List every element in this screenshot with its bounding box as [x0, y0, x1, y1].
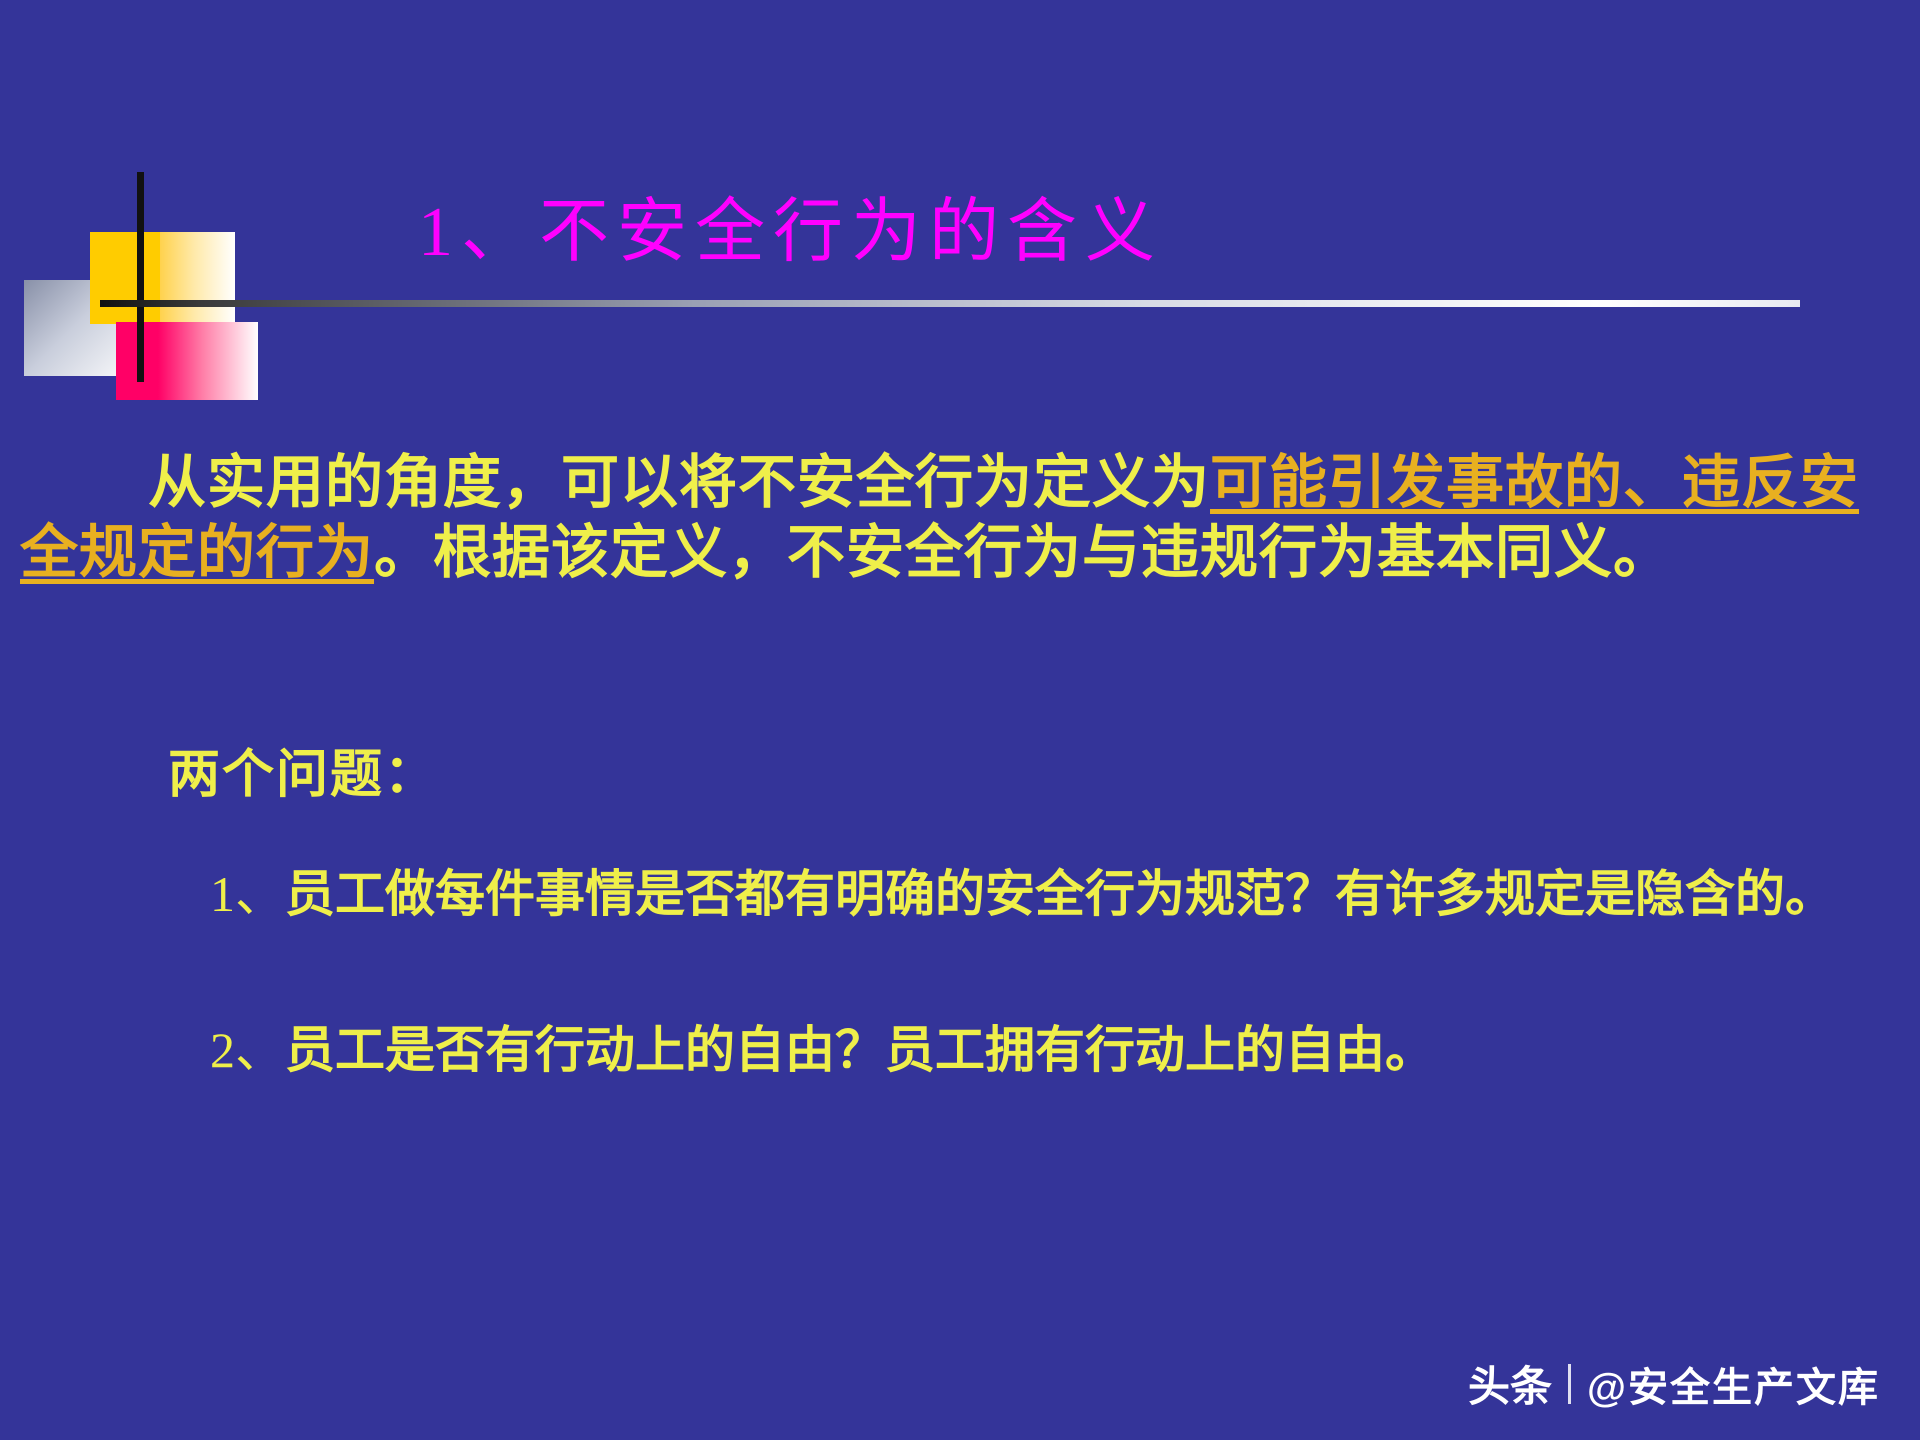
list-item-text: 员工做每件事情是否都有明确的安全行为规范？有许多规定是隐含的。 [285, 866, 1835, 922]
slide-canvas: 1、不安全行为的含义 从实用的角度，可以将不安全行为定义为可能引发事故的、违反安… [0, 0, 1920, 1440]
list-item-text: 员工是否有行动上的自由？员工拥有行动上的自由。 [285, 1022, 1435, 1078]
paragraph-part-2: 。根据该定义，不安全行为与违规行为基本同义。 [374, 520, 1672, 585]
decorative-logo [20, 172, 300, 382]
section-heading-two-questions: 两个问题： [168, 744, 438, 806]
list-item-number: 2、 [210, 1022, 285, 1078]
logo-vertical-rule-icon [137, 172, 144, 382]
logo-horizontal-rule-icon [100, 300, 1800, 307]
watermark-account: @安全生产文库 [1587, 1355, 1880, 1413]
watermark-brand: 头条 [1468, 1353, 1552, 1414]
slide-title: 1、不安全行为的含义 [418, 198, 1163, 268]
list-item: 2、员工是否有行动上的自由？员工拥有行动上的自由。 [20, 1018, 1900, 1082]
logo-pink-gradient-icon [158, 322, 258, 400]
list-item-number: 1、 [210, 866, 285, 922]
watermark-divider [1568, 1364, 1571, 1404]
paragraph-part-1: 从实用的角度，可以将不安全行为定义为 [148, 450, 1210, 515]
watermark: 头条 @安全生产文库 [1468, 1353, 1880, 1414]
logo-yellow-gradient-icon [160, 232, 235, 324]
body-paragraph: 从实用的角度，可以将不安全行为定义为可能引发事故的、违反安全规定的行为。根据该定… [20, 448, 1880, 588]
list-item: 1、员工做每件事情是否都有明确的安全行为规范？有许多规定是隐含的。 [20, 862, 1900, 926]
